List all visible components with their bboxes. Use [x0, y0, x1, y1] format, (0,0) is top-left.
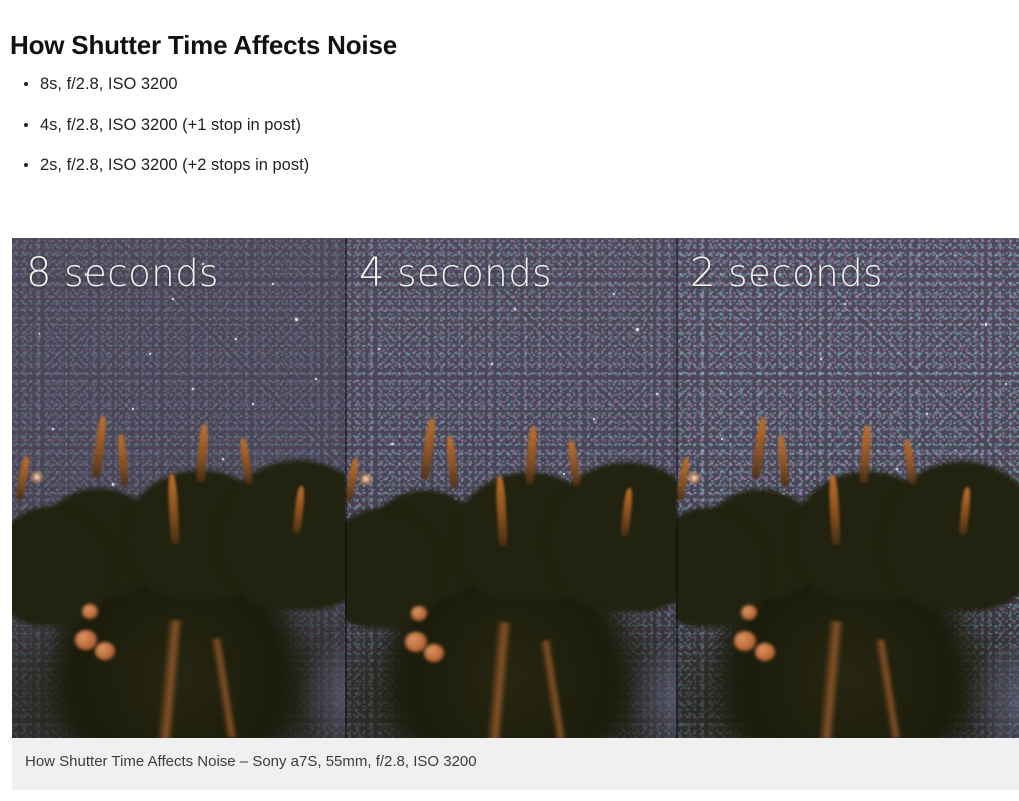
panel-label-unit: seconds — [728, 252, 883, 295]
panel-label-2-seconds: 2 seconds — [690, 250, 883, 296]
panel-label-number: 2 — [690, 250, 716, 296]
photo-panel-4-seconds: 4 seconds — [345, 238, 676, 738]
panel-label-number: 4 — [359, 250, 385, 296]
exposure-spec-list: 8s, f/2.8, ISO 3200 4s, f/2.8, ISO 3200 … — [10, 74, 309, 196]
panel-label-8-seconds: 8 seconds — [26, 250, 219, 296]
page-title: How Shutter Time Affects Noise — [10, 30, 397, 61]
panel-label-unit: seconds — [397, 252, 552, 295]
noise-comparison-image: 8 seconds — [12, 238, 1019, 738]
photo-panel-2-seconds: 2 seconds — [676, 238, 1019, 738]
panel-label-unit: seconds — [64, 252, 219, 295]
panel-label-4-seconds: 4 seconds — [359, 250, 552, 296]
panel-divider — [676, 238, 678, 738]
list-item: 8s, f/2.8, ISO 3200 — [40, 74, 309, 95]
photo-panel-8-seconds: 8 seconds — [12, 238, 345, 738]
comparison-figure: 8 seconds — [12, 238, 1019, 790]
list-item: 2s, f/2.8, ISO 3200 (+2 stops in post) — [40, 155, 309, 176]
list-item: 4s, f/2.8, ISO 3200 (+1 stop in post) — [40, 115, 309, 136]
panel-label-number: 8 — [26, 250, 52, 296]
panel-divider — [345, 238, 347, 738]
article-page: How Shutter Time Affects Noise 8s, f/2.8… — [0, 0, 1019, 801]
figure-caption: How Shutter Time Affects Noise – Sony a7… — [12, 738, 1019, 790]
